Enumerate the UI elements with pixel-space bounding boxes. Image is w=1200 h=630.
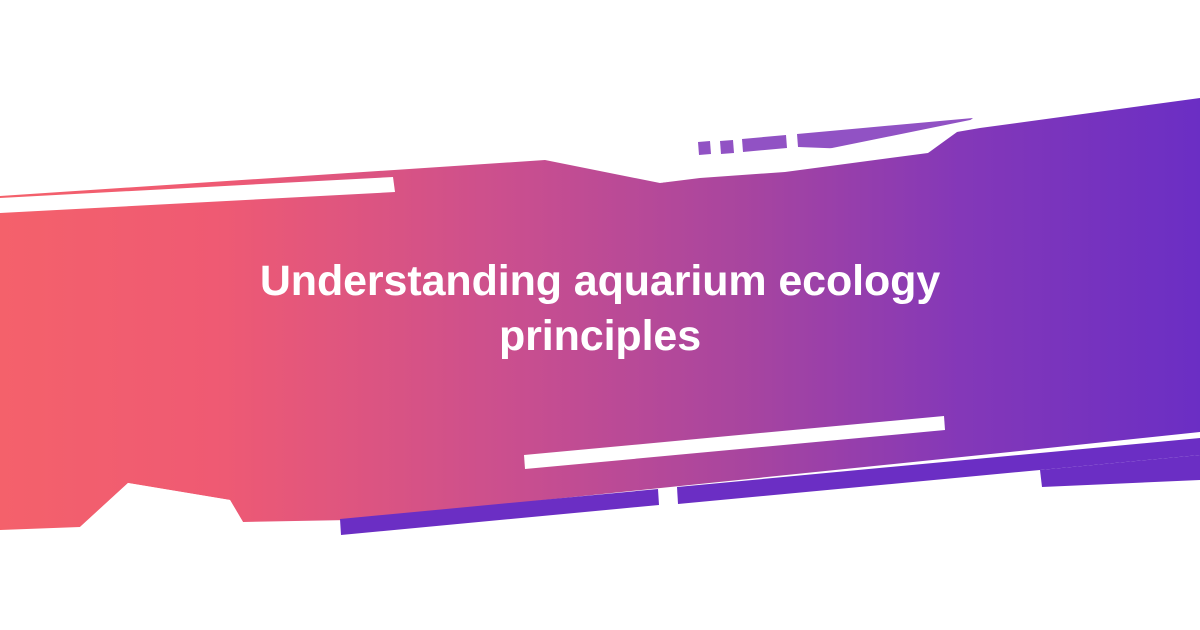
- dash-mark-1: [698, 141, 711, 155]
- banner-card: Understanding aquarium ecology principle…: [0, 0, 1200, 630]
- banner-graphic: [0, 0, 1200, 630]
- dash-mark-3: [742, 135, 787, 152]
- dash-mark-2: [720, 140, 734, 154]
